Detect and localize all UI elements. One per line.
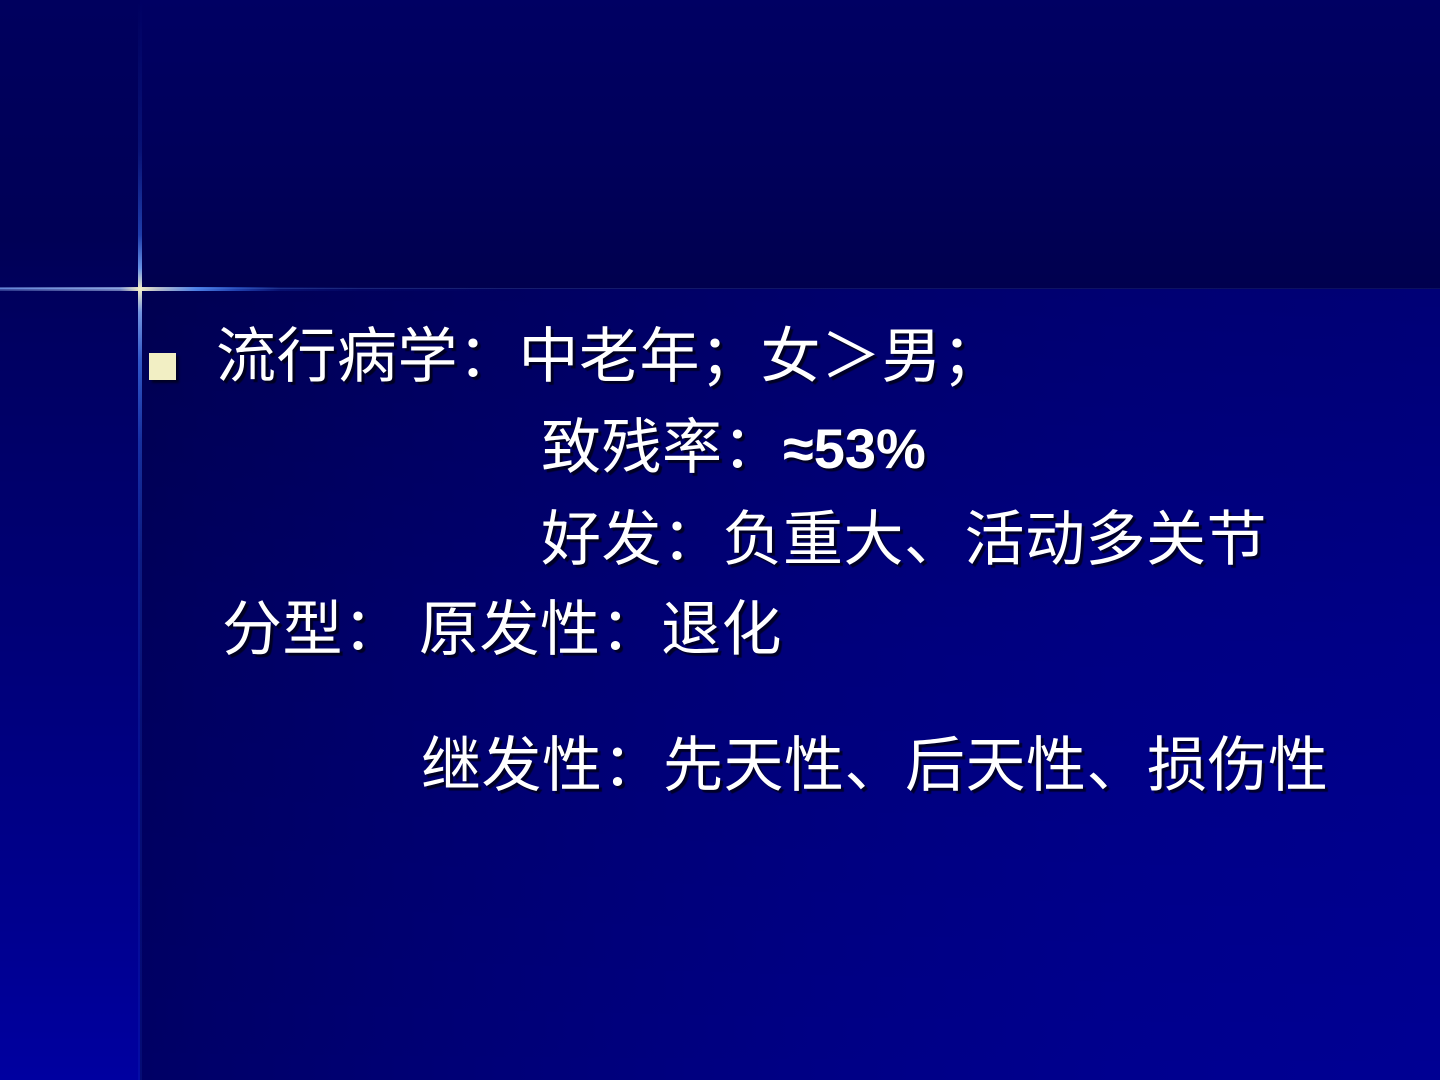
text-line-epidemiology: 流行病学：中老年；女＞男； <box>216 327 1003 387</box>
text-line-secondary-classification: 继发性：先天性、后天性、损伤性 <box>421 736 1329 796</box>
disability-rate-label: 致残率： <box>541 415 783 481</box>
text-line-common-sites: 好发：负重大、活动多关节 <box>541 510 1267 570</box>
horizontal-accent-glow <box>0 287 1440 291</box>
disability-rate-value: ≈53% <box>783 417 926 480</box>
slide-left-rail <box>0 0 140 1080</box>
slide-background-shading <box>140 289 1440 1080</box>
presentation-slide: 流行病学：中老年；女＞男； 致残率：≈53% 好发：负重大、活动多关节 分型： … <box>0 0 1440 1080</box>
vertical-accent-line <box>138 0 142 1080</box>
slide-background-upper <box>0 0 1440 289</box>
text-line-classification: 分型： 原发性：退化 <box>222 600 782 660</box>
bullet-square-icon <box>149 353 176 380</box>
text-line-disability-rate: 致残率：≈53% <box>541 418 926 478</box>
